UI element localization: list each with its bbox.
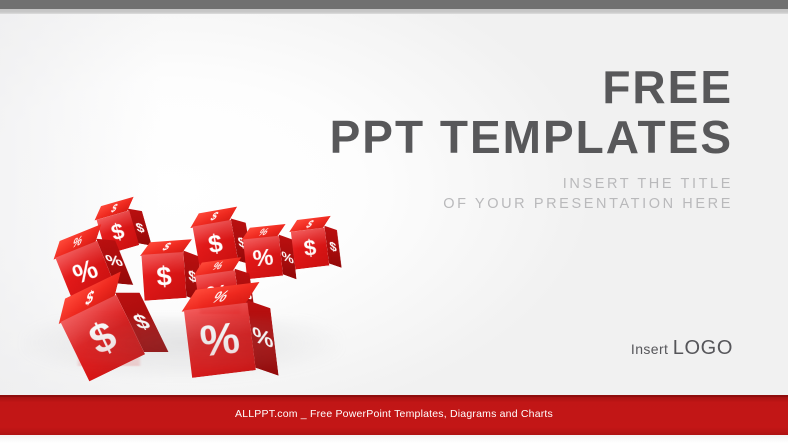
- cube-7-front-face: $: [291, 228, 329, 270]
- logo-word-label: LOGO: [673, 337, 733, 359]
- page-title-line-2: PPT TEMPLATES: [253, 112, 733, 162]
- cube-9-front-face: %: [184, 303, 256, 378]
- page-title-line-1: FREE: [253, 62, 733, 112]
- title-block: FREE PPT TEMPLATES INSERT THE TITLE OF Y…: [253, 62, 733, 214]
- cube-3: $ $ $: [141, 248, 197, 304]
- footer-bottom-edge: [0, 435, 788, 443]
- footer-credit-text: ALLPPT.com _ Free PowerPoint Templates, …: [0, 408, 788, 420]
- cube-7: $ $ $: [290, 223, 339, 272]
- cube-5: % % %: [243, 232, 294, 283]
- logo-insert-label: Insert: [631, 341, 668, 357]
- subtitle-line-2: OF YOUR PRESENTATION HERE: [253, 194, 733, 214]
- subtitle-block: INSERT THE TITLE OF YOUR PRESENTATION HE…: [253, 174, 733, 214]
- top-accent-bar-dark: [0, 0, 788, 9]
- subtitle-line-1: INSERT THE TITLE: [253, 174, 733, 194]
- cube-3-front-face: $: [141, 252, 186, 301]
- cube-9: % % %: [183, 294, 277, 388]
- logo-placeholder[interactable]: Insert LOGO: [631, 337, 733, 360]
- footer-banner: ALLPPT.com _ Free PowerPoint Templates, …: [0, 395, 788, 435]
- presentation-slide: $ $ $ % % % $ $ $ $ $ $ % % %: [0, 0, 788, 443]
